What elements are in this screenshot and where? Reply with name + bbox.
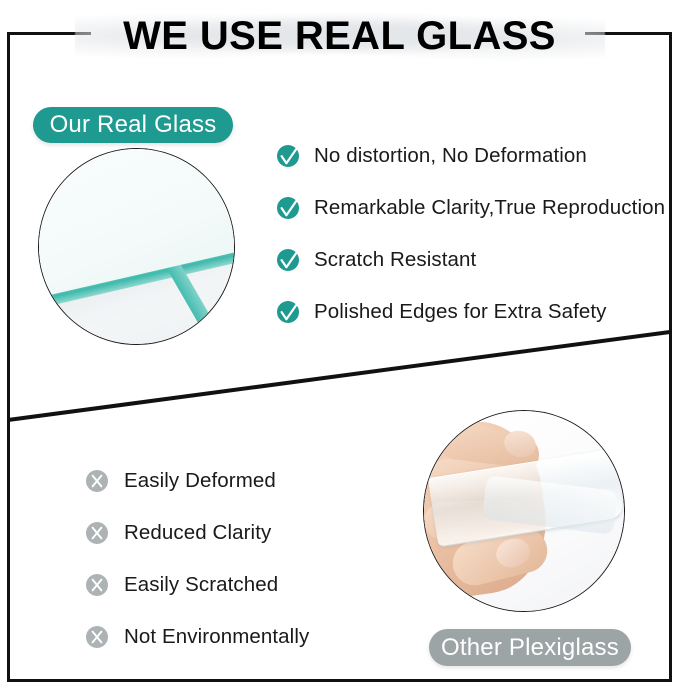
frame-border-bottom (7, 679, 672, 682)
diagonal-divider (8, 332, 670, 422)
x-circle-icon (85, 625, 109, 649)
check-circle-icon (276, 300, 300, 324)
check-circle-icon (276, 248, 300, 272)
pros-list: No distortion, No Deformation Remarkable… (276, 130, 671, 338)
x-circle-icon (85, 521, 109, 545)
list-item-label: Remarkable Clarity,True Reproduction (314, 196, 665, 220)
list-item: Reduced Clarity (85, 507, 415, 559)
plexiglass-photo (423, 410, 625, 612)
list-item-label: Not Environmentally (124, 625, 309, 649)
page-title: WE USE REAL GLASS (0, 13, 679, 59)
list-item-label: Reduced Clarity (124, 521, 271, 545)
check-circle-icon (276, 196, 300, 220)
real-glass-photo (38, 148, 235, 345)
list-item: Polished Edges for Extra Safety (276, 286, 671, 338)
list-item: Easily Scratched (85, 559, 415, 611)
x-circle-icon (85, 469, 109, 493)
list-item-label: Easily Deformed (124, 469, 276, 493)
badge-other-plexiglass-label: Other Plexiglass (441, 634, 619, 662)
badge-other-plexiglass: Other Plexiglass (429, 629, 631, 666)
badge-our-real-glass: Our Real Glass (33, 107, 233, 143)
list-item-label: Scratch Resistant (314, 248, 476, 272)
x-circle-icon (85, 573, 109, 597)
list-item: Not Environmentally (85, 611, 415, 663)
list-item: Remarkable Clarity,True Reproduction (276, 182, 671, 234)
list-item: Easily Deformed (85, 455, 415, 507)
list-item-label: No distortion, No Deformation (314, 144, 587, 168)
list-item-label: Easily Scratched (124, 573, 278, 597)
list-item: Scratch Resistant (276, 234, 671, 286)
list-item-label: Polished Edges for Extra Safety (314, 300, 607, 324)
infographic-canvas: WE USE REAL GLASS Our Real Glass No dist… (0, 0, 679, 691)
list-item: No distortion, No Deformation (276, 130, 671, 182)
badge-our-real-glass-label: Our Real Glass (50, 111, 217, 139)
check-circle-icon (276, 144, 300, 168)
cons-list: Easily Deformed Reduced Clarity Easily S… (85, 455, 415, 663)
